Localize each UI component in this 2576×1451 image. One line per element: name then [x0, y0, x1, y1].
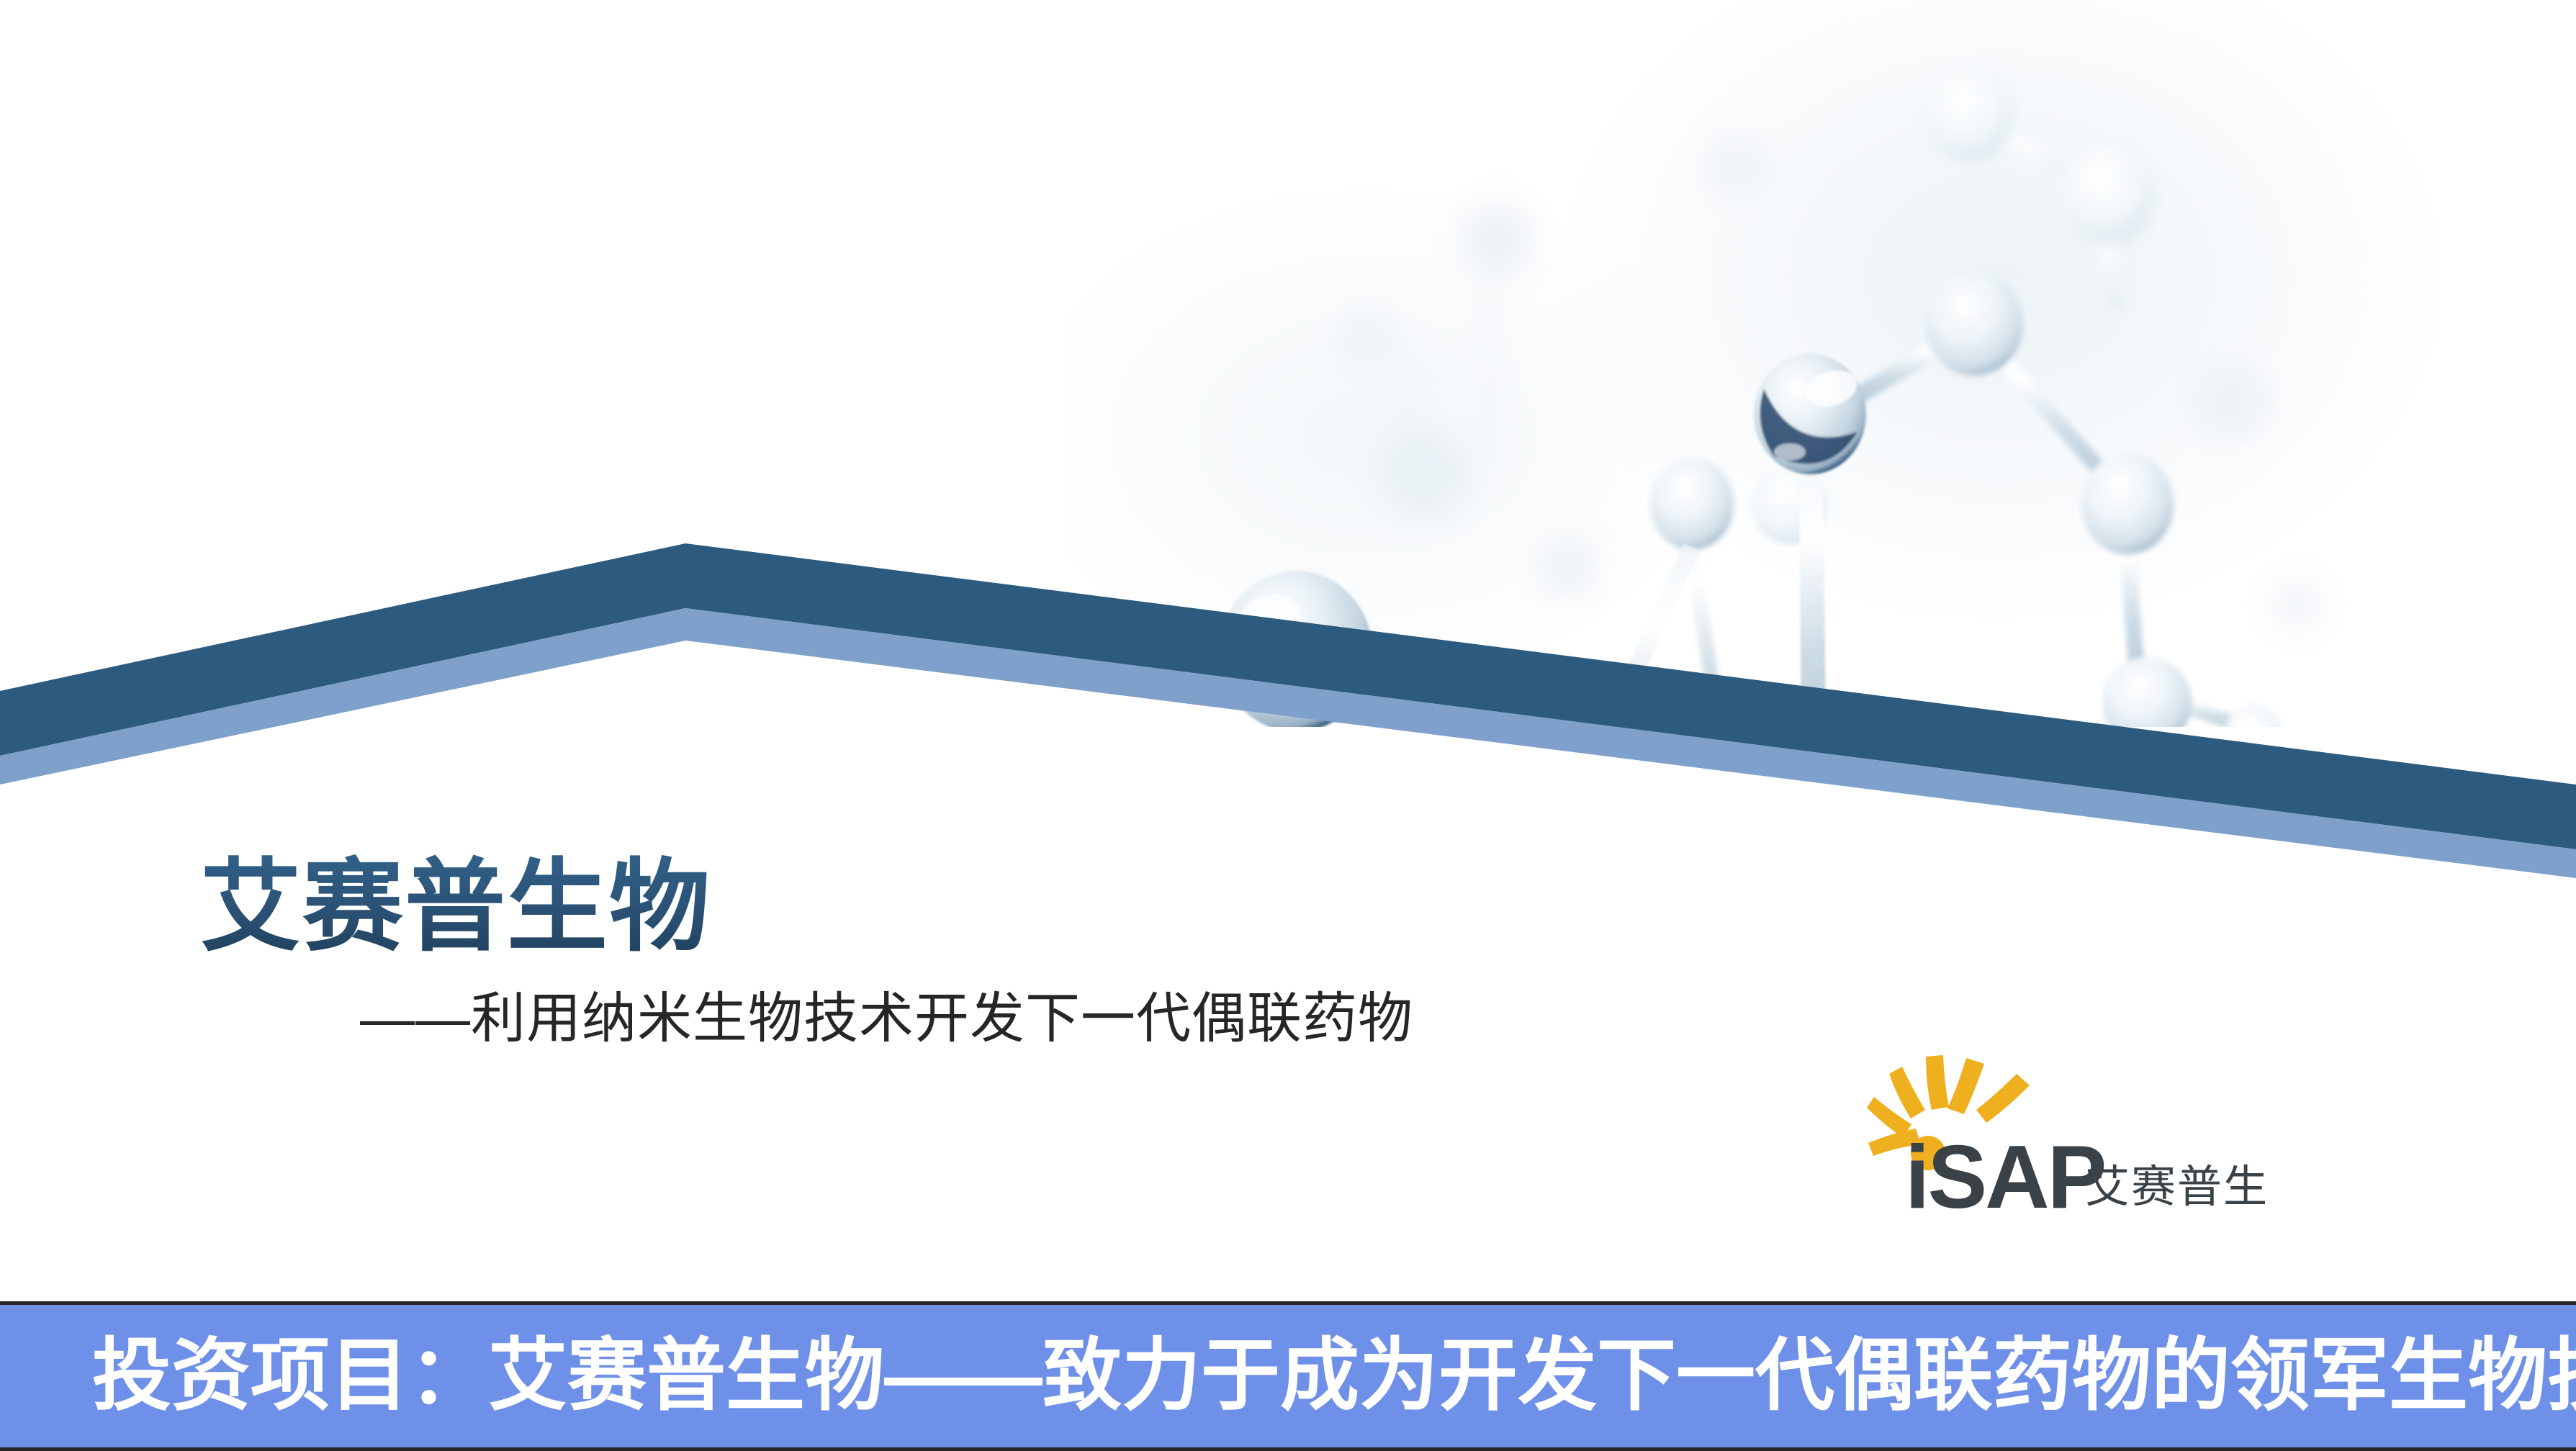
title-block: 艾赛普生物 ——利用纳米生物技术开发下一代偶联药物: [0, 849, 1656, 1049]
molecule-illustration: [1188, 0, 2576, 727]
company-logo: iSAP 艾赛普生物: [1847, 1051, 2265, 1216]
slide-canvas: 艾赛普生物 ——利用纳米生物技术开发下一代偶联药物 iSAP 艾赛普生物: [0, 0, 2576, 1451]
bottom-banner-text: 投资项目：艾赛普生物——致力于成为开发下一代偶联药物的领军生物技术公司: [0, 1337, 2576, 1416]
bottom-banner: 投资项目：艾赛普生物——致力于成为开发下一代偶联药物的领军生物技术公司: [0, 1301, 2576, 1451]
page-subtitle: ——利用纳米生物技术开发下一代偶联药物: [0, 964, 1656, 1049]
logo-wordmark: iSAP: [1905, 1128, 2104, 1216]
svg-text:艾赛普生物: 艾赛普生物: [2085, 1162, 2265, 1212]
logo-company-name: 艾赛普生物: [2085, 1162, 2265, 1212]
svg-text:iSAP: iSAP: [1905, 1128, 2104, 1216]
page-title: 艾赛普生物: [0, 849, 1656, 964]
